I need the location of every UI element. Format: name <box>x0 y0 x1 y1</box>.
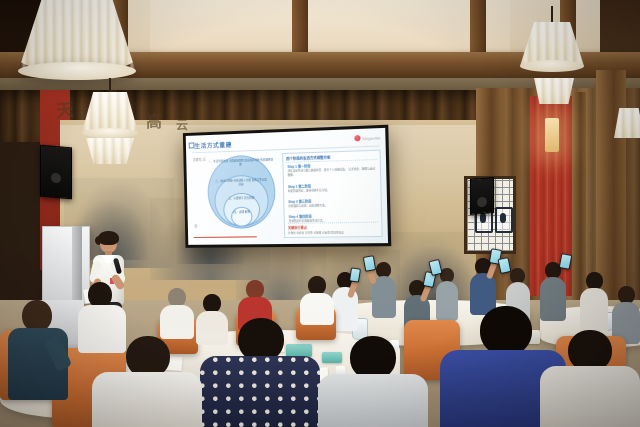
audience-body <box>540 366 640 427</box>
lamp-rim <box>18 62 136 80</box>
audience-member <box>580 272 608 332</box>
audience-member <box>300 276 334 324</box>
speaker-cone <box>477 196 487 207</box>
lamp-rim <box>82 128 138 138</box>
audience-member-foreground <box>318 336 428 427</box>
presentation-slide: 生活方式重建 Megavital 重要性 高 低 一、生活型態重建 全面健康管理… <box>186 128 388 245</box>
audience-body-polkadot <box>200 356 320 427</box>
audience-member-foreground <box>540 330 640 427</box>
calligraphy-glyph: 高 <box>146 108 162 132</box>
audience-member <box>160 288 194 338</box>
lamp-cord <box>551 6 553 24</box>
slide-step-item: Step 1 第一阶段 评估当前生活习惯与健康状况，建立个人基础档案。 记录饮食… <box>287 161 377 178</box>
nested-circles-diagram: 一、生活型態重建 全面健康管理 食识营养均衡 作息规律调整 二、运动与体能 有氧… <box>207 154 276 229</box>
pendant-lampshade-lower <box>86 138 134 164</box>
axis-label-top: 重要性 高 <box>193 158 206 163</box>
slide-step-item: Step 3 第三阶段 持续跟踪与反馈，动态调整方案。 <box>288 197 378 209</box>
slide-title: 生活方式重建 <box>194 140 232 150</box>
slide-step-item: Step 2 第二阶段 制定阶段目标，逐步替换不良习惯。 <box>288 182 378 194</box>
axis-label-bottom: 低 <box>194 224 197 229</box>
slide-footer: 关键执行要点 计划性 持续性 可行性 可衡量 可反馈 阶段性复盘 <box>288 221 379 235</box>
projection-screen: 生活方式重建 Megavital 重要性 高 低 一、生活型態重建 全面健康管理… <box>183 125 391 248</box>
step-body: 评估当前生活习惯与健康状况，建立个人基础档案。 记录饮食、睡眠与运动数据。 <box>288 167 377 178</box>
audience-body <box>160 305 194 339</box>
footer-body: 计划性 持续性 可行性 可衡量 可反馈 阶段性复盘 <box>288 230 378 235</box>
audience-member-foreground <box>200 318 320 427</box>
vertical-beam <box>292 0 308 56</box>
lamp-pleats <box>534 78 574 104</box>
lamp-rim <box>520 60 584 72</box>
audience-body <box>318 374 428 427</box>
conference-room-photo: 天 花 高 云 生活方式重建 Megavital <box>0 0 640 427</box>
speaker-cone <box>51 173 61 184</box>
lamp-pleats <box>86 138 134 164</box>
lattice-figure <box>495 207 513 233</box>
wall-sconce-light <box>545 118 559 152</box>
pendant-lampshade-right-lower <box>534 78 574 104</box>
slide-logo: Megavital <box>354 134 380 141</box>
calligraphy-glyph: 天 <box>55 95 74 121</box>
audience-member-foreground <box>92 336 202 427</box>
audience-member <box>372 262 396 318</box>
audience-member-foreground <box>8 300 68 400</box>
audience-body <box>92 372 202 427</box>
wall-speaker-left <box>40 145 72 200</box>
ceiling-plaster-upper <box>150 0 510 52</box>
audience-body <box>580 288 608 333</box>
brand-mark-icon <box>354 135 360 141</box>
slide-logo-text: Megavital <box>362 135 380 141</box>
step-body: 持续跟踪与反馈，动态调整方案。 <box>288 203 377 209</box>
slide-right-panel: 四个阶段的生活方式调整方案 Step 1 第一阶段 评估当前生活习惯与健康状况，… <box>282 150 383 238</box>
slide-left-panel: 重要性 高 低 一、生活型態重建 全面健康管理 食识营养均衡 作息规律调整 二、… <box>192 153 278 231</box>
step-body: 制定阶段目标，逐步替换不良习惯。 <box>288 188 377 194</box>
wall-speaker-right <box>470 177 494 215</box>
calligraphy-glyph: 云 <box>176 116 188 133</box>
audience-head <box>480 306 532 356</box>
smartphone <box>363 255 376 272</box>
presenter-hair <box>98 231 119 245</box>
lamp-cord <box>109 78 111 94</box>
slide-accent-underline <box>194 236 257 238</box>
vertical-beam <box>470 0 486 56</box>
